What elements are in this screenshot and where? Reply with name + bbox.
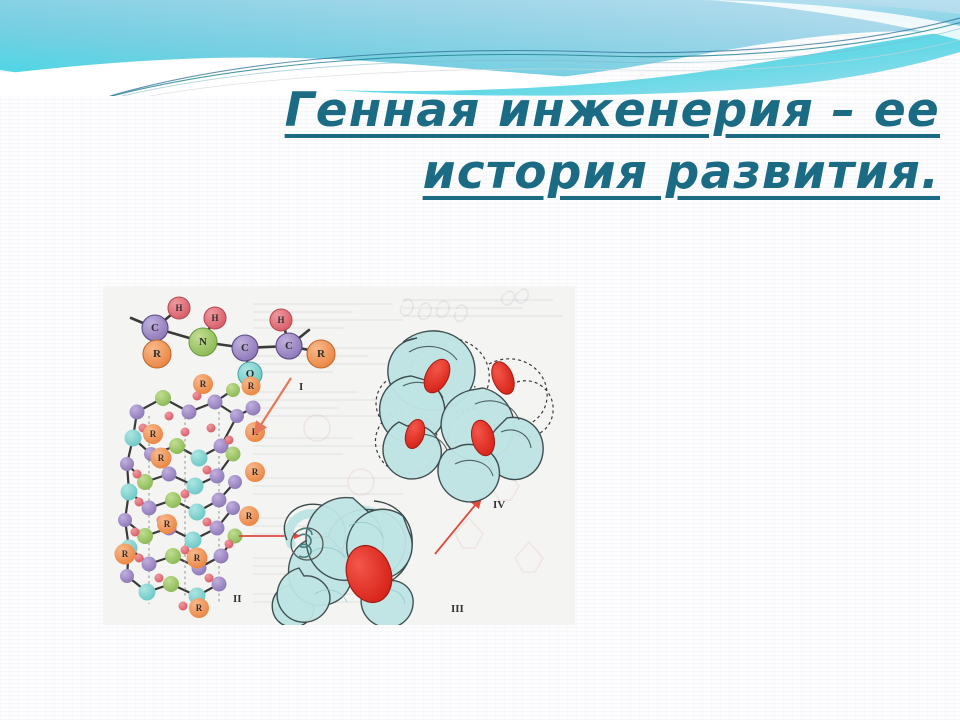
title-line-1: Генная инженерия – ее xyxy=(120,80,940,142)
atom-carbon xyxy=(120,569,134,583)
atom-oxygen xyxy=(139,584,156,601)
atom-label-radical: R xyxy=(153,348,162,360)
svg-text:R: R xyxy=(164,519,171,529)
atom-carbon xyxy=(246,401,261,416)
presentation-slide: Генная инженерия – ее история развития. xyxy=(0,0,960,720)
svg-text:R: R xyxy=(194,553,201,563)
atom-hydrogen xyxy=(207,424,216,433)
atom-nitrogen xyxy=(165,492,181,508)
atom-carbon xyxy=(130,405,145,420)
atom-hydrogen xyxy=(181,490,190,499)
atom-carbon xyxy=(210,469,225,484)
figure-label-primary: I xyxy=(299,381,303,393)
atom-nitrogen xyxy=(226,447,241,462)
atom-hydrogen xyxy=(179,602,188,611)
atom-hydrogen xyxy=(133,470,142,479)
svg-text:R: R xyxy=(196,603,203,613)
atom-hydrogen xyxy=(131,528,140,537)
svg-text:R: R xyxy=(246,511,253,521)
atom-oxygen xyxy=(187,478,204,495)
atom-label-nitrogen: N xyxy=(199,336,207,348)
atom-carbon xyxy=(142,557,157,572)
atom-carbon xyxy=(142,501,157,516)
protein-structure-levels-image[interactable]: C H R N H C O C H R I xyxy=(103,286,575,625)
atom-label-carbon: C xyxy=(241,342,249,354)
atom-hydrogen xyxy=(181,428,190,437)
atom-hydrogen xyxy=(225,436,234,445)
svg-text:R: R xyxy=(248,381,255,391)
atom-carbon xyxy=(118,513,132,527)
atom-nitrogen xyxy=(155,390,171,406)
atom-nitrogen xyxy=(163,576,179,592)
svg-text:R: R xyxy=(200,379,207,389)
atom-label-hydrogen: H xyxy=(277,315,284,325)
atom-carbon xyxy=(208,395,223,410)
atom-carbon xyxy=(230,409,244,423)
slide-title[interactable]: Генная инженерия – ее история развития. xyxy=(120,80,940,204)
atom-oxygen xyxy=(121,484,138,501)
atom-oxygen xyxy=(191,450,208,467)
figure-label-secondary: II xyxy=(233,593,242,605)
atom-nitrogen xyxy=(226,383,240,397)
figure-label-quaternary: IV xyxy=(493,499,505,511)
atom-carbon xyxy=(182,405,197,420)
atom-carbon xyxy=(214,549,229,564)
atom-hydrogen xyxy=(155,574,164,583)
atom-hydrogen xyxy=(203,466,212,475)
atom-hydrogen xyxy=(135,554,144,563)
svg-text:R: R xyxy=(252,467,259,477)
atom-carbon xyxy=(228,475,242,489)
atom-label-hydrogen: H xyxy=(175,303,182,313)
atom-hydrogen xyxy=(225,540,234,549)
atom-hydrogen xyxy=(205,574,214,583)
title-line-2: история развития. xyxy=(120,142,940,204)
svg-text:R: R xyxy=(122,549,129,559)
atom-label-radical: R xyxy=(317,348,326,360)
atom-oxygen xyxy=(189,504,206,521)
svg-text:R: R xyxy=(150,429,157,439)
atom-label-carbon: C xyxy=(285,340,293,352)
atom-label-carbon: C xyxy=(151,322,159,334)
atom-oxygen xyxy=(125,430,142,447)
atom-hydrogen xyxy=(135,498,144,507)
atom-nitrogen xyxy=(169,438,185,454)
atom-label-hydrogen: H xyxy=(211,313,218,323)
svg-text:R: R xyxy=(158,453,165,463)
atom-carbon xyxy=(162,467,177,482)
atom-carbon xyxy=(120,457,134,471)
atom-carbon xyxy=(212,493,227,508)
atom-hydrogen xyxy=(203,518,212,527)
atom-carbon xyxy=(210,521,225,536)
atom-carbon xyxy=(212,577,227,592)
atom-oxygen xyxy=(185,532,202,549)
atom-hydrogen xyxy=(165,412,174,421)
atom-nitrogen xyxy=(165,548,181,564)
atom-nitrogen xyxy=(137,528,153,544)
figure-label-tertiary: III xyxy=(451,603,464,615)
atom-carbon xyxy=(226,501,240,515)
